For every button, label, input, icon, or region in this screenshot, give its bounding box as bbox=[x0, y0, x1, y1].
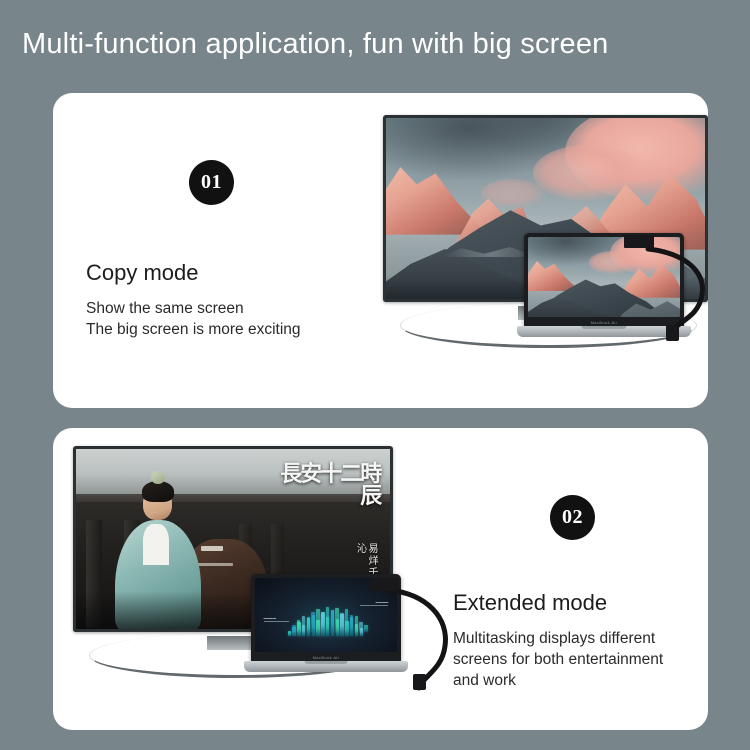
copy-mode-title: Copy mode bbox=[86, 260, 199, 286]
step-badge-01: 01 bbox=[189, 160, 234, 205]
chart-bar bbox=[331, 610, 334, 635]
chart-bar bbox=[292, 627, 295, 636]
chart-bar bbox=[326, 617, 329, 636]
chart-bar bbox=[297, 622, 300, 636]
feature-card-extended-mode: 02 Extended mode Multitasking displays d… bbox=[53, 428, 708, 730]
chart-bar bbox=[364, 625, 367, 631]
promo-page: Multi-function application, fun with big… bbox=[0, 0, 750, 750]
cable-plug-tv bbox=[369, 578, 399, 591]
chart-bar bbox=[307, 618, 310, 636]
copy-mode-description: Show the same screen The big screen is m… bbox=[86, 298, 366, 340]
cable-plug-tv bbox=[624, 235, 654, 248]
chart-bar bbox=[350, 617, 353, 636]
poster-figure-hair bbox=[142, 481, 174, 501]
chart-bar bbox=[355, 624, 358, 636]
chart-bar bbox=[340, 614, 343, 635]
laptop-base-notch bbox=[305, 661, 348, 664]
step-badge-02: 02 bbox=[550, 495, 595, 540]
chart-bar bbox=[345, 621, 348, 636]
extended-mode-title: Extended mode bbox=[453, 590, 607, 616]
chart-bar bbox=[336, 619, 339, 636]
copy-mode-illustration: MacBook Air bbox=[328, 115, 708, 400]
cable-plug-laptop bbox=[413, 674, 426, 690]
extended-mode-illustration: 長安十二時辰 易烊千璽 李沁 ▬▬▬▬ bbox=[73, 446, 443, 721]
poster-title-calligraphy: 長安十二時辰 bbox=[271, 463, 380, 507]
extended-mode-description: Multitasking displays different screens … bbox=[453, 628, 708, 691]
chart-bar bbox=[288, 631, 291, 636]
laptop-base-notch bbox=[581, 326, 626, 329]
page-title: Multi-function application, fun with big… bbox=[22, 26, 608, 62]
chart-bar bbox=[312, 615, 315, 636]
poster-bridle bbox=[201, 546, 223, 551]
cable-plug-laptop bbox=[666, 325, 679, 341]
chart-bar bbox=[360, 628, 363, 636]
poster-figure-topknot bbox=[151, 471, 164, 484]
chart-bar bbox=[302, 625, 305, 636]
chart-bar bbox=[316, 620, 319, 635]
chart-bar bbox=[321, 612, 324, 635]
feature-card-copy-mode: 01 Copy mode Show the same screen The bi… bbox=[53, 93, 708, 408]
poster-figure-collar bbox=[143, 524, 169, 565]
